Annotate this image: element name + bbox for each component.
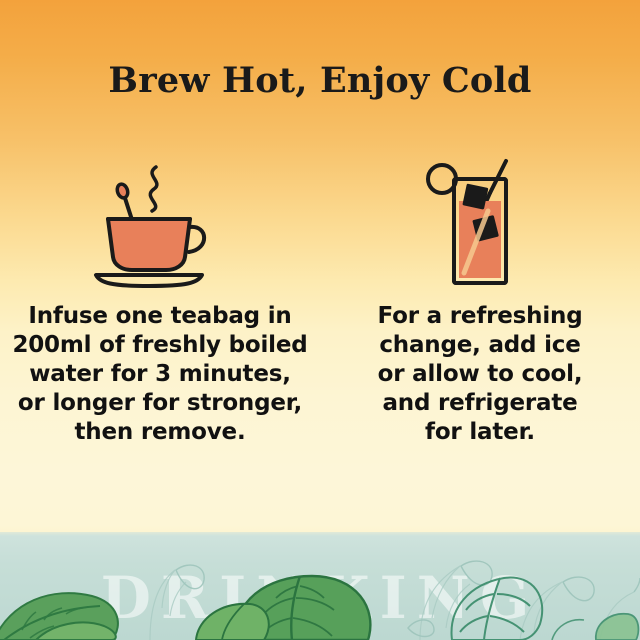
hot-tea-cup-icon: [90, 150, 230, 290]
panel-cold-serve-text: For a refreshing change, add ice or allo…: [330, 302, 630, 447]
poster: Brew Hot, Enjoy Cold: [0, 0, 640, 640]
page-title: Brew Hot, Enjoy Cold: [0, 60, 640, 101]
panel-cold-line-4: and refrigerate: [330, 389, 630, 418]
panel-cold-line-5: for later.: [330, 418, 630, 447]
panel-cold-line-3: or allow to cool,: [330, 360, 630, 389]
panel-cold-serve: For a refreshing change, add ice or allo…: [320, 150, 640, 447]
botanical-band: DRINKING: [0, 532, 640, 640]
panel-hot-brew-text: Infuse one teabag in 200ml of freshly bo…: [10, 302, 310, 447]
iced-tea-glass-icon: [420, 150, 540, 290]
panel-hot-line-5: then remove.: [10, 418, 310, 447]
panel-hot-line-2: 200ml of freshly boiled: [10, 331, 310, 360]
panel-hot-brew: Infuse one teabag in 200ml of freshly bo…: [0, 150, 320, 447]
panel-cold-line-2: change, add ice: [330, 331, 630, 360]
panel-hot-line-4: or longer for stronger,: [10, 389, 310, 418]
botanical-leaves-illustration: [0, 532, 640, 640]
instruction-panels: Infuse one teabag in 200ml of freshly bo…: [0, 150, 640, 447]
panel-cold-line-1: For a refreshing: [330, 302, 630, 331]
panel-hot-line-3: water for 3 minutes,: [10, 360, 310, 389]
panel-hot-line-1: Infuse one teabag in: [10, 302, 310, 331]
